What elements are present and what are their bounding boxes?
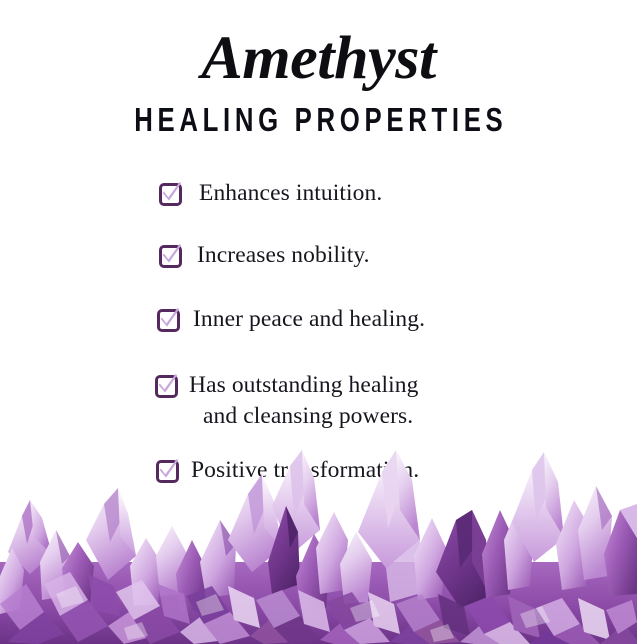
checkbox-checked-icon[interactable] bbox=[155, 374, 177, 396]
poster-canvas: Amethyst HEALING PROPERTIES Enhances int… bbox=[0, 0, 637, 644]
list-item-line: and cleansing powers. bbox=[189, 401, 637, 432]
list-item-line: Has outstanding healing bbox=[189, 370, 637, 401]
healing-properties-list: Enhances intuition. Increases nobility. bbox=[0, 178, 637, 486]
list-item: Inner peace and healing. bbox=[0, 304, 637, 335]
amethyst-crystal-cluster-image bbox=[0, 444, 637, 644]
crystal-cluster-graphic bbox=[0, 444, 637, 644]
checkmark-glyph bbox=[162, 181, 181, 202]
list-item: Increases nobility. bbox=[0, 240, 637, 271]
checkbox-checked-icon[interactable] bbox=[157, 308, 179, 330]
poster-header: Amethyst HEALING PROPERTIES bbox=[0, 0, 637, 136]
list-item-text: Enhances intuition. bbox=[181, 178, 637, 209]
list-item: Has outstanding healing and cleansing po… bbox=[0, 370, 637, 432]
checkmark-glyph bbox=[160, 307, 179, 328]
list-item-line: Enhances intuition. bbox=[199, 178, 637, 209]
list-item-line: Inner peace and healing. bbox=[193, 304, 637, 335]
list-item: Enhances intuition. bbox=[0, 178, 637, 209]
checkmark-glyph bbox=[158, 373, 177, 394]
list-item-text: Inner peace and healing. bbox=[179, 304, 637, 335]
page-subtitle: HEALING PROPERTIES bbox=[70, 103, 567, 136]
list-item-line: Increases nobility. bbox=[197, 240, 637, 271]
list-item-text: Has outstanding healing and cleansing po… bbox=[177, 370, 637, 432]
list-item-text: Increases nobility. bbox=[181, 240, 637, 271]
checkmark-glyph bbox=[162, 243, 181, 264]
checkbox-checked-icon[interactable] bbox=[159, 182, 181, 204]
checkbox-checked-icon[interactable] bbox=[159, 244, 181, 266]
page-title: Amethyst bbox=[0, 28, 637, 89]
